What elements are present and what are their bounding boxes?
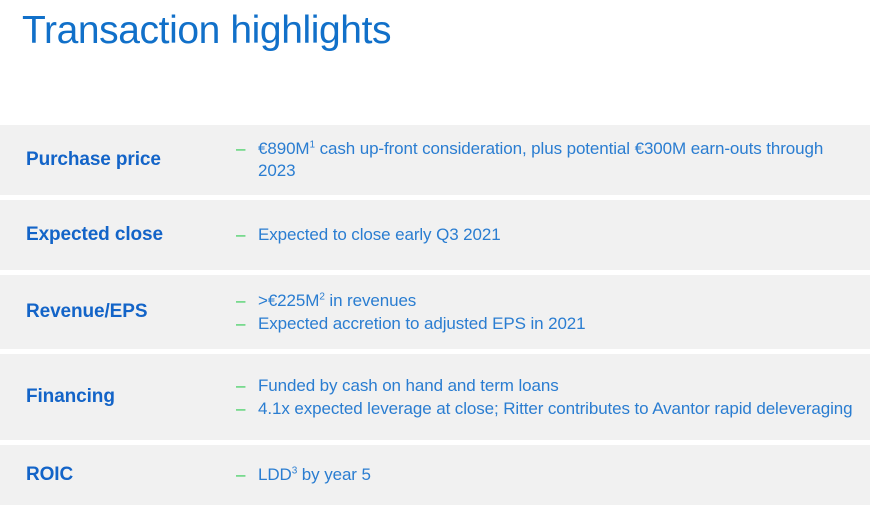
row-bullets-expected-close: – Expected to close early Q3 2021 — [236, 224, 870, 246]
dash-bullet-icon: – — [236, 224, 258, 246]
row-label-roic: ROIC — [0, 463, 236, 487]
list-item: – Funded by cash on hand and term loans — [236, 375, 854, 397]
bullet-text: Expected accretion to adjusted EPS in 20… — [258, 313, 854, 335]
list-item: – Expected accretion to adjusted EPS in … — [236, 313, 854, 335]
list-item: – 4.1x expected leverage at close; Ritte… — [236, 398, 854, 420]
row-bullets-roic: – LDD3 by year 5 — [236, 464, 870, 486]
table-row: ROIC – LDD3 by year 5 — [0, 445, 870, 505]
row-label-financing: Financing — [0, 385, 236, 409]
dash-bullet-icon: – — [236, 464, 258, 486]
row-label-revenue-eps: Revenue/EPS — [0, 300, 236, 324]
bullet-text: LDD3 by year 5 — [258, 464, 854, 486]
bullet-text-post: in revenues — [325, 291, 416, 310]
dash-bullet-icon: – — [236, 398, 258, 420]
bullet-text-pre: Funded by cash on hand and term loans — [258, 376, 559, 395]
bullet-text: Expected to close early Q3 2021 — [258, 224, 854, 246]
dash-bullet-icon: – — [236, 138, 258, 160]
list-item: – Expected to close early Q3 2021 — [236, 224, 854, 246]
list-item: – LDD3 by year 5 — [236, 464, 854, 486]
bullet-text-pre: >€225M — [258, 291, 319, 310]
list-item: – >€225M2 in revenues — [236, 290, 854, 312]
bullet-text: >€225M2 in revenues — [258, 290, 854, 312]
row-label-expected-close: Expected close — [0, 223, 236, 247]
bullet-text: €890M1 cash up-front consideration, plus… — [258, 138, 854, 182]
table-row: Purchase price – €890M1 cash up-front co… — [0, 125, 870, 195]
row-bullets-financing: – Funded by cash on hand and term loans … — [236, 375, 870, 420]
table-row: Revenue/EPS – >€225M2 in revenues – Expe… — [0, 275, 870, 349]
bullet-text-post: by year 5 — [297, 465, 371, 484]
bullet-text-pre: €890M — [258, 139, 309, 158]
list-item: – €890M1 cash up-front consideration, pl… — [236, 138, 854, 182]
bullet-text-pre: LDD — [258, 465, 292, 484]
table-row: Expected close – Expected to close early… — [0, 200, 870, 270]
dash-bullet-icon: – — [236, 290, 258, 312]
bullet-text-post: cash up-front consideration, plus potent… — [258, 139, 823, 180]
page-title: Transaction highlights — [22, 7, 391, 55]
row-bullets-revenue-eps: – >€225M2 in revenues – Expected accreti… — [236, 290, 870, 335]
dash-bullet-icon: – — [236, 375, 258, 397]
slide-canvas: Transaction highlights Purchase price – … — [0, 0, 870, 501]
bullet-text-pre: Expected to close early Q3 2021 — [258, 225, 501, 244]
row-label-purchase-price: Purchase price — [0, 148, 236, 172]
bullet-text: Funded by cash on hand and term loans — [258, 375, 854, 397]
highlights-table: Purchase price – €890M1 cash up-front co… — [0, 125, 870, 510]
bullet-text-pre: Expected accretion to adjusted EPS in 20… — [258, 314, 586, 333]
bullet-text: 4.1x expected leverage at close; Ritter … — [258, 398, 854, 420]
dash-bullet-icon: – — [236, 313, 258, 335]
row-bullets-purchase-price: – €890M1 cash up-front consideration, pl… — [236, 138, 870, 182]
bullet-text-pre: 4.1x expected leverage at close; Ritter … — [258, 399, 853, 418]
table-row: Financing – Funded by cash on hand and t… — [0, 354, 870, 440]
